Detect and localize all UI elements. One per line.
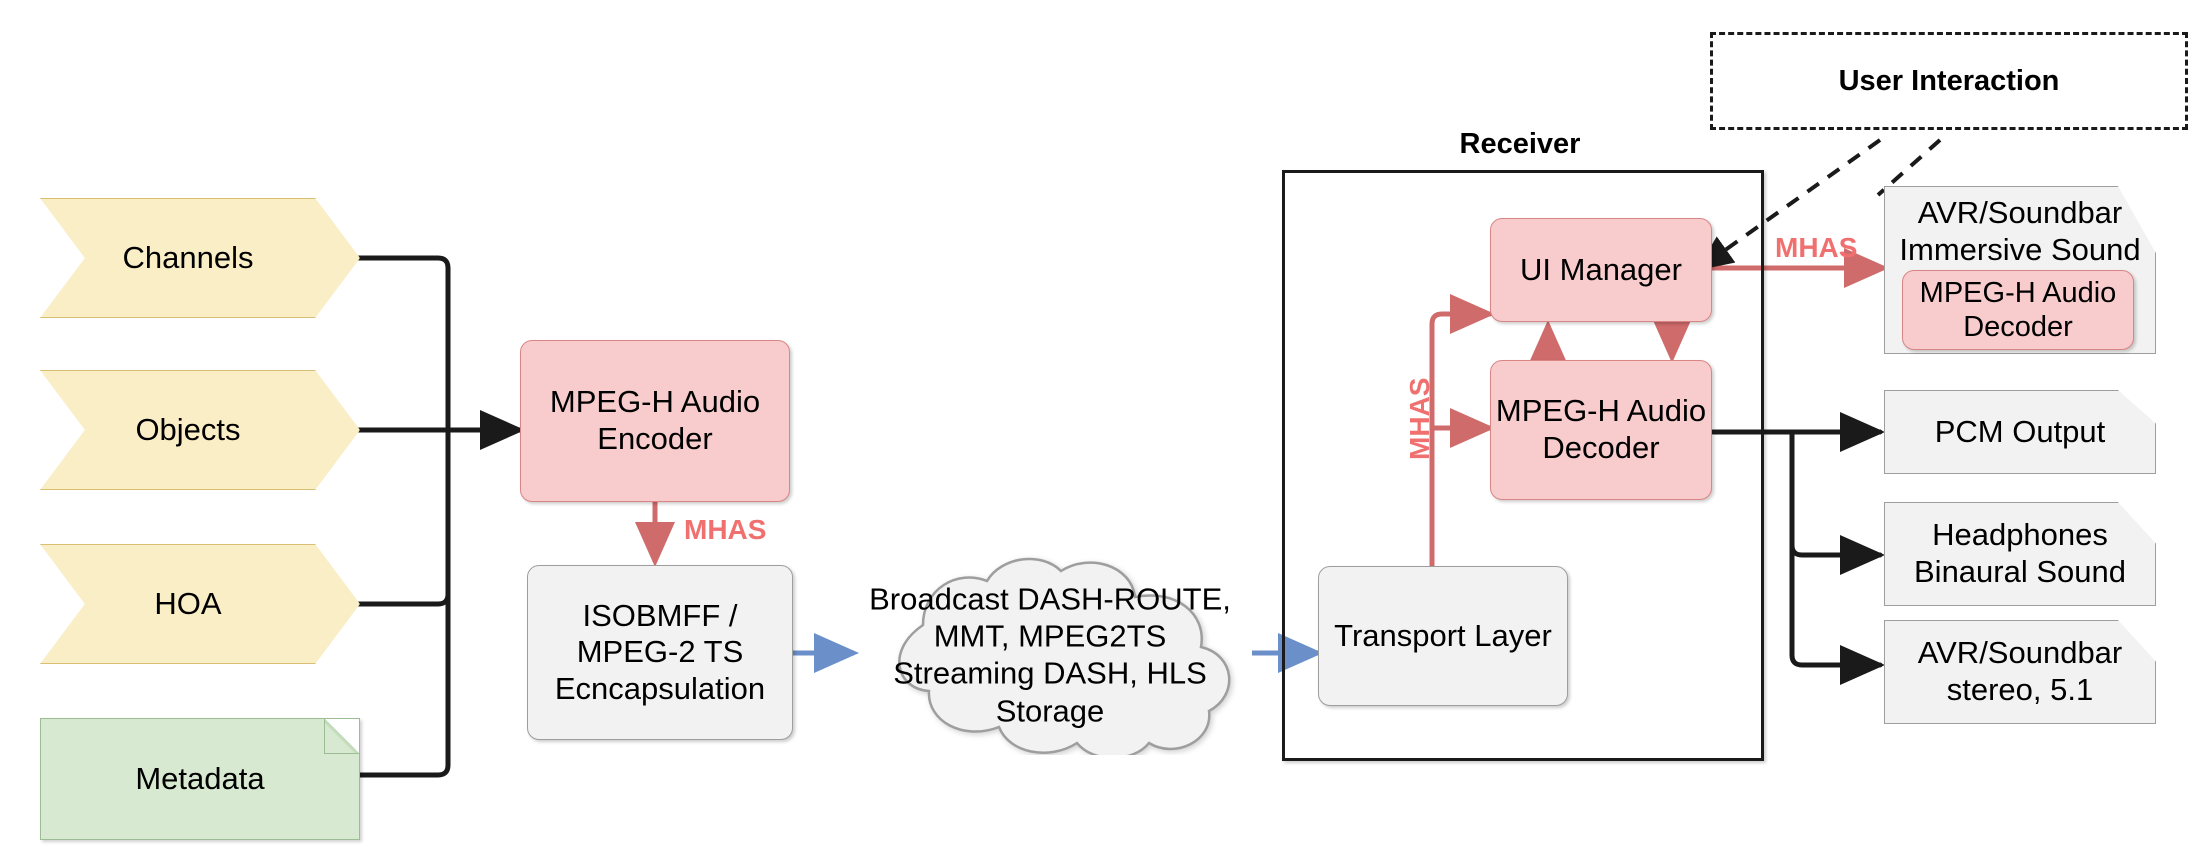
mhas-label-receiver-out: MHAS bbox=[1775, 232, 1857, 264]
output-avr-immersive-line1: AVR/Soundbar bbox=[1918, 195, 2123, 232]
mpegh-audio-encoder[interactable]: MPEG-H Audio Encoder bbox=[520, 340, 790, 502]
cloud-line1: Broadcast DASH-ROUTE, bbox=[845, 581, 1255, 618]
transport-layer[interactable]: Transport Layer bbox=[1318, 566, 1568, 706]
encapsulation-line1: ISOBMFF / bbox=[583, 598, 738, 635]
output-headphones-line2: Binaural Sound bbox=[1914, 554, 2126, 591]
cloud-line3: Streaming DASH, HLS bbox=[845, 655, 1255, 692]
encapsulation-line3: Ecncapsulation bbox=[555, 671, 765, 708]
output-avr-stereo-line2: stereo, 5.1 bbox=[1947, 672, 2093, 709]
output-avr-stereo-line1: AVR/Soundbar bbox=[1918, 635, 2123, 672]
input-channels-label: Channels bbox=[123, 240, 254, 277]
cloud-text-block: Broadcast DASH-ROUTE, MMT, MPEG2TS Strea… bbox=[845, 581, 1255, 730]
input-hoa-label: HOA bbox=[154, 586, 221, 623]
cloud-line2: MMT, MPEG2TS bbox=[845, 618, 1255, 655]
receiver-decoder-line1: MPEG-H Audio bbox=[1496, 393, 1706, 430]
receiver-decoder-line2: Decoder bbox=[1542, 430, 1659, 467]
transport-layer-label: Transport Layer bbox=[1334, 618, 1552, 655]
user-interaction-box[interactable]: User Interaction bbox=[1710, 32, 2188, 130]
input-channels[interactable]: Channels bbox=[40, 198, 360, 318]
input-objects-label: Objects bbox=[135, 412, 240, 449]
output-avr-soundbar-stereo[interactable]: AVR/Soundbar stereo, 5.1 bbox=[1884, 620, 2156, 724]
page-fold-icon bbox=[324, 719, 359, 754]
avr-decoder-line1: MPEG-H Audio bbox=[1920, 276, 2117, 310]
output-pcm[interactable]: PCM Output bbox=[1884, 390, 2156, 474]
avr-decoder-line2: Decoder bbox=[1963, 310, 2073, 344]
output-pcm-line1: PCM Output bbox=[1935, 414, 2106, 451]
output-avr-immersive-line2: Immersive Sound bbox=[1899, 232, 2140, 269]
mhas-label-receiver-vertical: MHAS bbox=[1404, 378, 1436, 460]
ui-manager-label: UI Manager bbox=[1520, 252, 1682, 289]
output-headphones-line1: Headphones bbox=[1932, 517, 2108, 554]
delivery-cloud[interactable]: Broadcast DASH-ROUTE, MMT, MPEG2TS Strea… bbox=[845, 555, 1255, 755]
mhas-label-encoder: MHAS bbox=[684, 514, 766, 546]
edge-inputs-to-encoder bbox=[355, 258, 520, 775]
isobmff-mpeg2ts-encapsulation[interactable]: ISOBMFF / MPEG-2 TS Ecncapsulation bbox=[527, 565, 793, 740]
encoder-label-line1: MPEG-H Audio bbox=[550, 384, 760, 421]
encoder-label-line2: Encoder bbox=[597, 421, 712, 458]
input-metadata[interactable]: Metadata bbox=[40, 718, 360, 840]
avr-internal-mpegh-decoder[interactable]: MPEG-H Audio Decoder bbox=[1902, 270, 2134, 350]
cloud-line4: Storage bbox=[845, 692, 1255, 729]
input-hoa[interactable]: HOA bbox=[40, 544, 360, 664]
input-metadata-label: Metadata bbox=[135, 761, 264, 798]
mpegh-audio-decoder-receiver[interactable]: MPEG-H Audio Decoder bbox=[1490, 360, 1712, 500]
ui-manager[interactable]: UI Manager bbox=[1490, 218, 1712, 322]
user-interaction-label: User Interaction bbox=[1839, 64, 2060, 98]
receiver-title: Receiver bbox=[1282, 128, 1758, 161]
output-headphones-binaural[interactable]: Headphones Binaural Sound bbox=[1884, 502, 2156, 606]
encapsulation-line2: MPEG-2 TS bbox=[577, 634, 744, 671]
diagram-canvas: Channels Objects HOA Metadata MPEG-H Aud… bbox=[0, 0, 2196, 861]
input-objects[interactable]: Objects bbox=[40, 370, 360, 490]
